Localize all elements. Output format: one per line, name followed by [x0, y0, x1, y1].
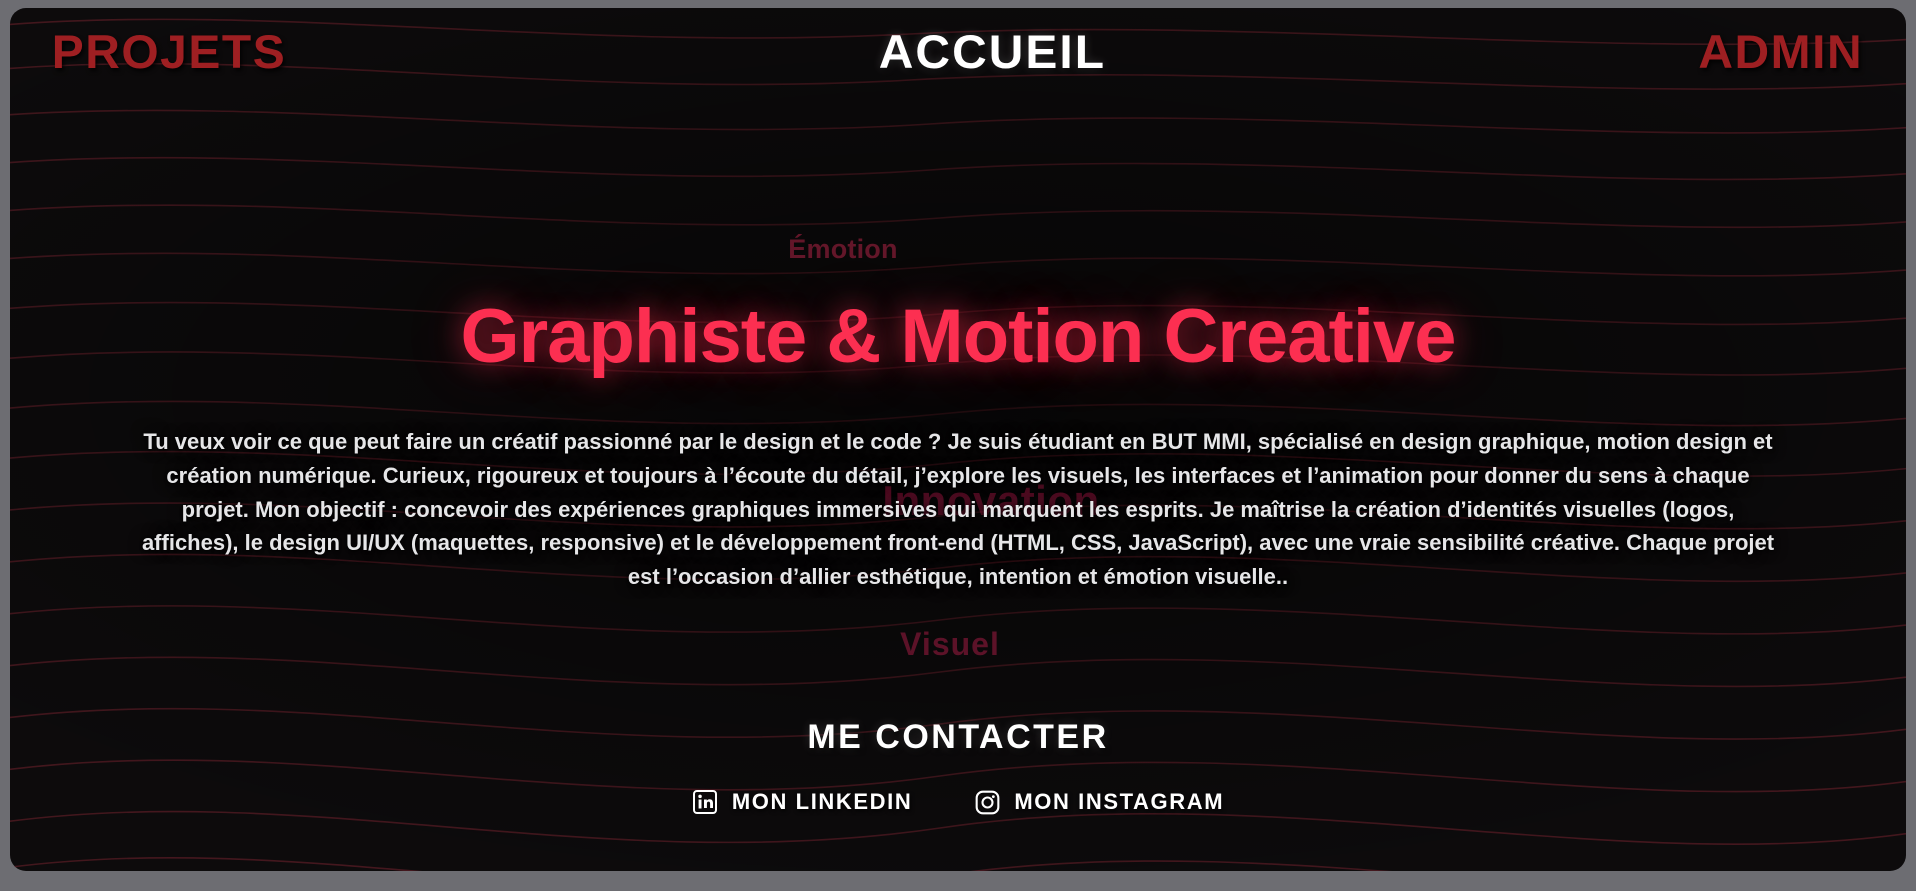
desktop-surround: PROJETS ACCUEIL ADMIN Émotion Innovation… [0, 0, 1916, 891]
hero-description: Tu veux voir ce que peut faire un créati… [133, 425, 1783, 594]
ghost-word-visuel: Visuel [900, 626, 1000, 663]
nav-link-projets[interactable]: PROJETS [52, 28, 287, 75]
nav-link-admin[interactable]: ADMIN [1699, 28, 1864, 75]
nav-link-accueil[interactable]: ACCUEIL [879, 28, 1106, 75]
linkedin-icon [692, 789, 718, 815]
social-link-instagram[interactable]: MON INSTAGRAM [974, 789, 1224, 815]
page-title: Graphiste & Motion Creative [461, 297, 1456, 377]
ghost-word-emotion: Émotion [788, 234, 897, 265]
contact-section: ME CONTACTER MON LINKEDIN [10, 718, 1906, 871]
social-label-linkedin: MON LINKEDIN [732, 789, 913, 815]
page-content: PROJETS ACCUEIL ADMIN Émotion Innovation… [10, 8, 1906, 871]
instagram-icon [974, 789, 1000, 815]
social-label-instagram: MON INSTAGRAM [1014, 789, 1224, 815]
contact-heading: ME CONTACTER [807, 718, 1108, 757]
top-navigation: PROJETS ACCUEIL ADMIN [10, 8, 1906, 94]
hero-section: Émotion Innovation Visuel Graphiste & Mo… [10, 94, 1906, 718]
social-links-row: MON LINKEDIN MON INSTAGRAM [692, 789, 1224, 815]
page-viewport: PROJETS ACCUEIL ADMIN Émotion Innovation… [10, 8, 1906, 871]
social-link-linkedin[interactable]: MON LINKEDIN [692, 789, 913, 815]
